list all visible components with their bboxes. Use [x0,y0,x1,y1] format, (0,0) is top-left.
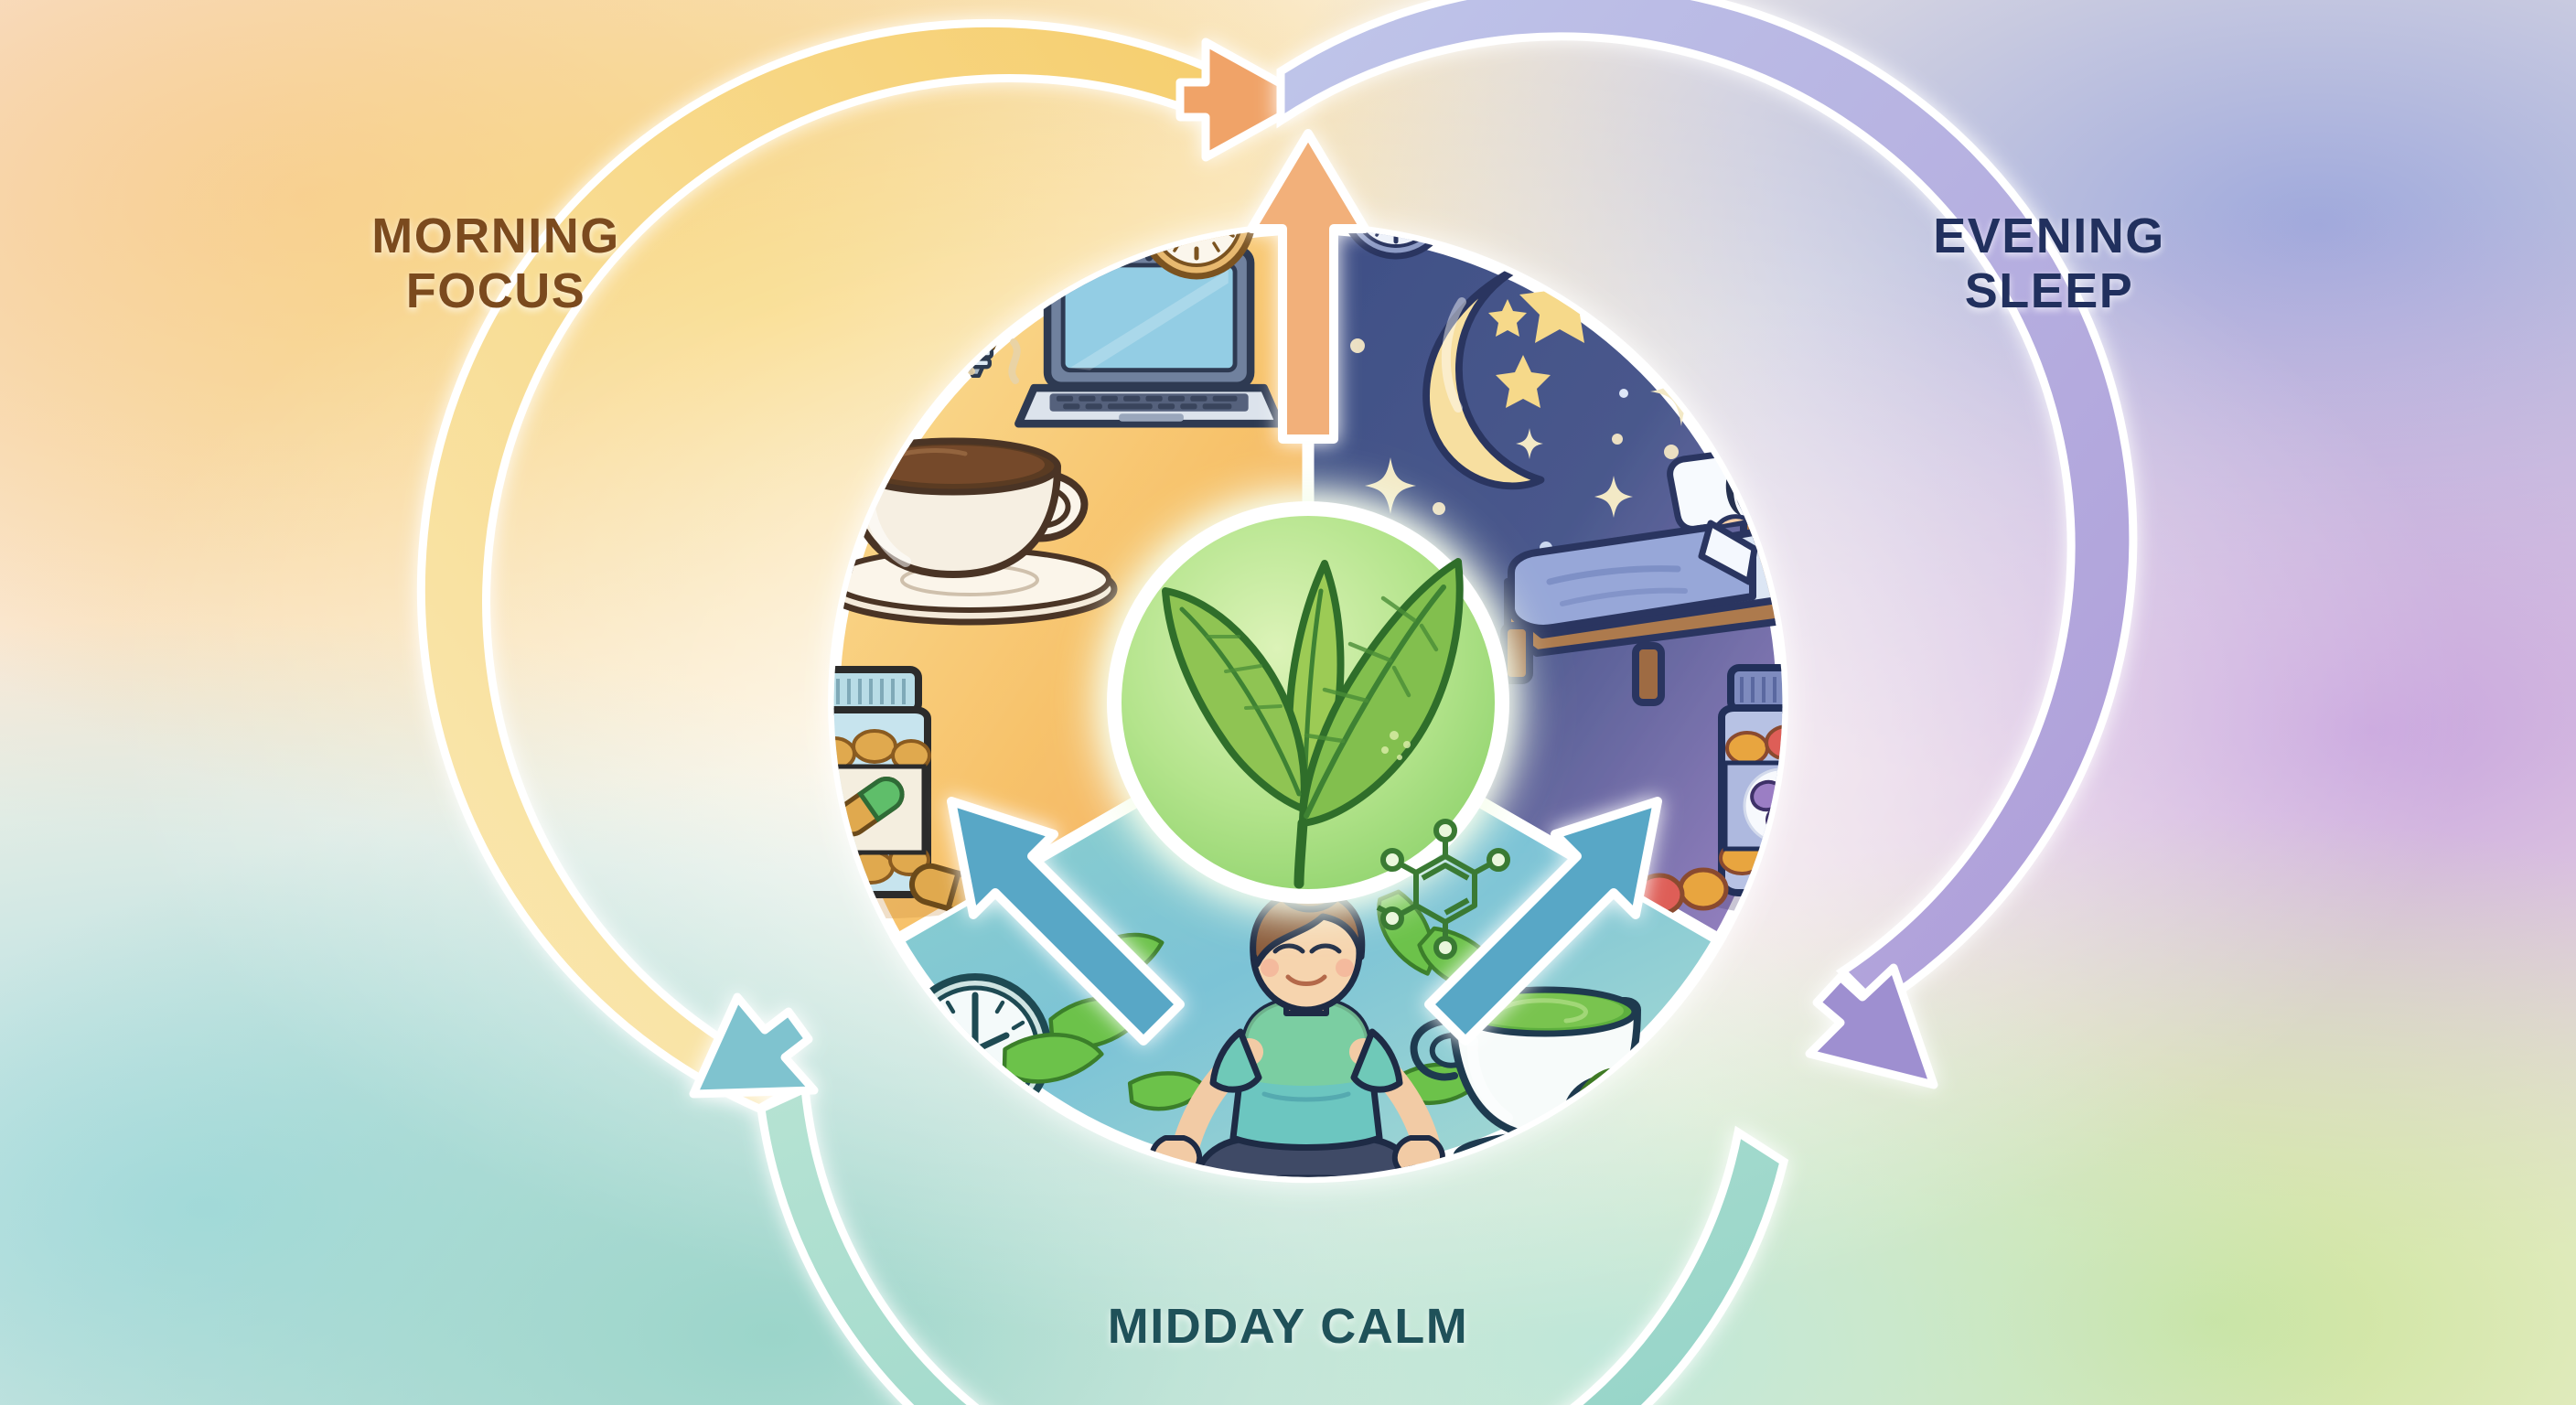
label-morning-focus: MORNING FOCUS [304,209,688,319]
matcha-powder-icon [1531,1152,1673,1169]
label-midday-calm: MIDDAY CALM [1032,1299,1544,1354]
laptop-icon [1018,250,1279,424]
infographic-canvas: MORNING FOCUS EVENING SLEEP MIDDAY CALM [0,0,2576,1405]
wall-clock-icon [1140,152,1253,276]
label-evening-sleep: EVENING SLEEP [1857,209,2241,319]
